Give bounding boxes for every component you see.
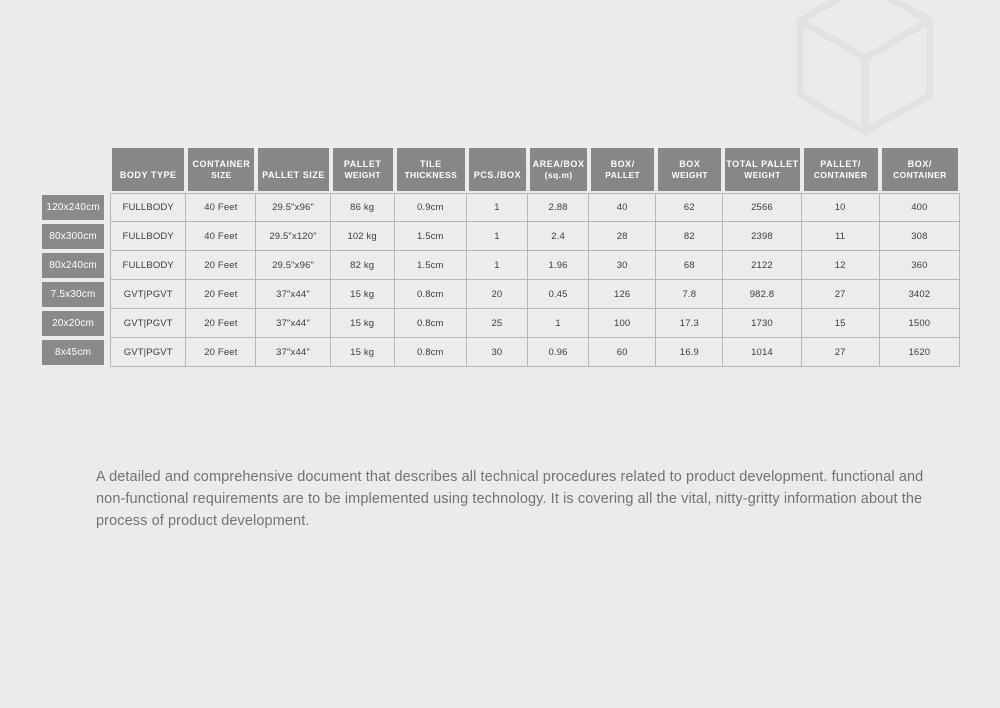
column-header-total-pallet-weight: TOTAL PALLET WEIGHT (723, 146, 801, 193)
cell-area-per-box: 2.4 (528, 222, 589, 251)
cell-total-pallet-weight: 2122 (723, 251, 801, 280)
cell-pallet-weight: 15 kg (331, 309, 395, 338)
cell-box-per-container: 400 (880, 193, 960, 222)
cell-area-per-box: 0.96 (528, 338, 589, 367)
column-header-area-per-box-line2: (sq.m) (530, 170, 587, 180)
column-header-container-size: CONTAINER SIZE (186, 146, 256, 193)
cell-box-per-pallet: 60 (589, 338, 656, 367)
column-header-total-pallet-weight-line2: WEIGHT (725, 170, 799, 180)
cell-pallet-per-container: 27 (802, 280, 880, 309)
cell-pallet-weight: 86 kg (331, 193, 395, 222)
cell-pcs-per-box: 1 (467, 193, 528, 222)
cell-total-pallet-weight: 982.8 (723, 280, 801, 309)
cell-pallet-size: 29.5"x96" (256, 251, 330, 280)
cell-pallet-weight: 102 kg (331, 222, 395, 251)
specification-table-block: BODY TYPE CONTAINER SIZE PALLET SIZE PAL… (40, 146, 960, 367)
cell-box-per-container: 308 (880, 222, 960, 251)
cell-pallet-size: 37"x44" (256, 338, 330, 367)
cell-box-per-pallet: 100 (589, 309, 656, 338)
header-stub-cell (40, 146, 106, 193)
column-header-tile-thickness-line2: THICKNESS (397, 170, 465, 180)
cell-tile-thickness: 1.5cm (395, 222, 467, 251)
table-body: 120x240cm FULLBODY 40 Feet 29.5"x96" 86 … (40, 193, 960, 367)
column-header-pallet-size: PALLET SIZE (256, 146, 330, 193)
cell-container-size: 40 Feet (186, 222, 256, 251)
column-header-pallet-weight-line1: PALLET (344, 159, 382, 169)
column-header-box-per-pallet-line1: BOX/ (611, 159, 635, 169)
cell-box-weight: 62 (656, 193, 723, 222)
table-row: 120x240cm FULLBODY 40 Feet 29.5"x96" 86 … (40, 193, 960, 222)
cell-pallet-per-container: 10 (802, 193, 880, 222)
cell-tile-thickness: 0.9cm (395, 193, 467, 222)
table-row: 80x300cm FULLBODY 40 Feet 29.5"x120" 102… (40, 222, 960, 251)
cell-body-type: FULLBODY (110, 251, 186, 280)
column-header-area-per-box-line1: AREA/BOX (533, 159, 585, 169)
cell-total-pallet-weight: 1730 (723, 309, 801, 338)
cell-pallet-weight: 15 kg (331, 280, 395, 309)
column-header-container-size-line1: CONTAINER (192, 159, 250, 169)
cell-box-per-pallet: 126 (589, 280, 656, 309)
column-header-pallet-weight: PALLET WEIGHT (331, 146, 395, 193)
column-header-tile-thickness-line1: TILE (420, 159, 442, 169)
table-row: 20x20cm GVT|PGVT 20 Feet 37"x44" 15 kg 0… (40, 309, 960, 338)
column-header-tile-thickness: TILE THICKNESS (395, 146, 467, 193)
cell-body-type: FULLBODY (110, 222, 186, 251)
column-header-body-type: BODY TYPE (110, 146, 186, 193)
cell-box-per-pallet: 40 (589, 193, 656, 222)
cell-box-weight: 16.9 (656, 338, 723, 367)
column-header-pcs-per-box-line1: PCS./BOX (474, 170, 521, 180)
cell-pallet-per-container: 15 (802, 309, 880, 338)
cell-pcs-per-box: 30 (467, 338, 528, 367)
cell-pallet-size: 37"x44" (256, 309, 330, 338)
row-size-label: 8x45cm (40, 338, 106, 367)
cell-container-size: 20 Feet (186, 309, 256, 338)
cell-container-size: 20 Feet (186, 338, 256, 367)
cell-body-type: GVT|PGVT (110, 309, 186, 338)
column-header-area-per-box: AREA/BOX (sq.m) (528, 146, 589, 193)
column-header-box-per-container-line2: CONTAINER (882, 170, 958, 180)
cell-box-per-pallet: 28 (589, 222, 656, 251)
cell-pcs-per-box: 25 (467, 309, 528, 338)
column-header-box-weight: BOX WEIGHT (656, 146, 723, 193)
cell-box-weight: 68 (656, 251, 723, 280)
column-header-body-type-line1: BODY TYPE (120, 170, 177, 180)
row-size-label: 20x20cm (40, 309, 106, 338)
cell-box-weight: 82 (656, 222, 723, 251)
description-block: A detailed and comprehensive document th… (96, 466, 936, 532)
table-row: 80x240cm FULLBODY 20 Feet 29.5"x96" 82 k… (40, 251, 960, 280)
cell-pallet-per-container: 12 (802, 251, 880, 280)
cell-total-pallet-weight: 2566 (723, 193, 801, 222)
cell-pallet-size: 37"x44" (256, 280, 330, 309)
cell-tile-thickness: 1.5cm (395, 251, 467, 280)
column-header-box-weight-line2: WEIGHT (658, 170, 721, 180)
column-header-total-pallet-weight-line1: TOTAL PALLET (726, 159, 798, 169)
cell-box-weight: 7.8 (656, 280, 723, 309)
description-text: A detailed and comprehensive document th… (96, 466, 936, 532)
row-size-label: 80x300cm (40, 222, 106, 251)
row-size-label: 120x240cm (40, 193, 106, 222)
cube-outline-icon (790, 0, 940, 138)
cell-pallet-per-container: 27 (802, 338, 880, 367)
cell-pcs-per-box: 1 (467, 222, 528, 251)
cell-box-weight: 17.3 (656, 309, 723, 338)
cell-tile-thickness: 0.8cm (395, 280, 467, 309)
column-header-pallet-size-line1: PALLET SIZE (262, 170, 325, 180)
column-header-pallet-per-container-line2: CONTAINER (804, 170, 878, 180)
cell-area-per-box: 0.45 (528, 280, 589, 309)
table-row: 7.5x30cm GVT|PGVT 20 Feet 37"x44" 15 kg … (40, 280, 960, 309)
column-header-pallet-per-container: PALLET/ CONTAINER (802, 146, 880, 193)
cell-pcs-per-box: 1 (467, 251, 528, 280)
cell-pcs-per-box: 20 (467, 280, 528, 309)
column-header-pcs-per-box: PCS./BOX (467, 146, 528, 193)
cell-body-type: GVT|PGVT (110, 338, 186, 367)
cell-area-per-box: 2.88 (528, 193, 589, 222)
cell-pallet-per-container: 11 (802, 222, 880, 251)
cell-box-per-pallet: 30 (589, 251, 656, 280)
cell-total-pallet-weight: 2398 (723, 222, 801, 251)
cell-body-type: GVT|PGVT (110, 280, 186, 309)
column-header-container-size-line2: SIZE (188, 170, 254, 180)
column-header-box-weight-line1: BOX (679, 159, 700, 169)
row-size-label: 7.5x30cm (40, 280, 106, 309)
cell-pallet-size: 29.5"x120" (256, 222, 330, 251)
cell-pallet-weight: 15 kg (331, 338, 395, 367)
cell-pallet-size: 29.5"x96" (256, 193, 330, 222)
column-header-box-per-container: BOX/ CONTAINER (880, 146, 960, 193)
cell-container-size: 20 Feet (186, 280, 256, 309)
cell-box-per-container: 360 (880, 251, 960, 280)
column-header-box-per-container-line1: BOX/ (908, 159, 932, 169)
cell-box-per-container: 1620 (880, 338, 960, 367)
cell-pallet-weight: 82 kg (331, 251, 395, 280)
column-header-pallet-per-container-line1: PALLET/ (820, 159, 861, 169)
cell-body-type: FULLBODY (110, 193, 186, 222)
column-header-box-per-pallet: BOX/ PALLET (589, 146, 656, 193)
cell-tile-thickness: 0.8cm (395, 309, 467, 338)
table-row: 8x45cm GVT|PGVT 20 Feet 37"x44" 15 kg 0.… (40, 338, 960, 367)
cell-total-pallet-weight: 1014 (723, 338, 801, 367)
cell-area-per-box: 1.96 (528, 251, 589, 280)
cell-container-size: 20 Feet (186, 251, 256, 280)
row-size-label: 80x240cm (40, 251, 106, 280)
cell-container-size: 40 Feet (186, 193, 256, 222)
cell-box-per-container: 1500 (880, 309, 960, 338)
cell-area-per-box: 1 (528, 309, 589, 338)
column-header-box-per-pallet-line2: PALLET (591, 170, 654, 180)
cell-tile-thickness: 0.8cm (395, 338, 467, 367)
column-header-pallet-weight-line2: WEIGHT (333, 170, 393, 180)
table-header-row: BODY TYPE CONTAINER SIZE PALLET SIZE PAL… (40, 146, 960, 193)
specification-table: BODY TYPE CONTAINER SIZE PALLET SIZE PAL… (40, 146, 960, 367)
cell-box-per-container: 3402 (880, 280, 960, 309)
